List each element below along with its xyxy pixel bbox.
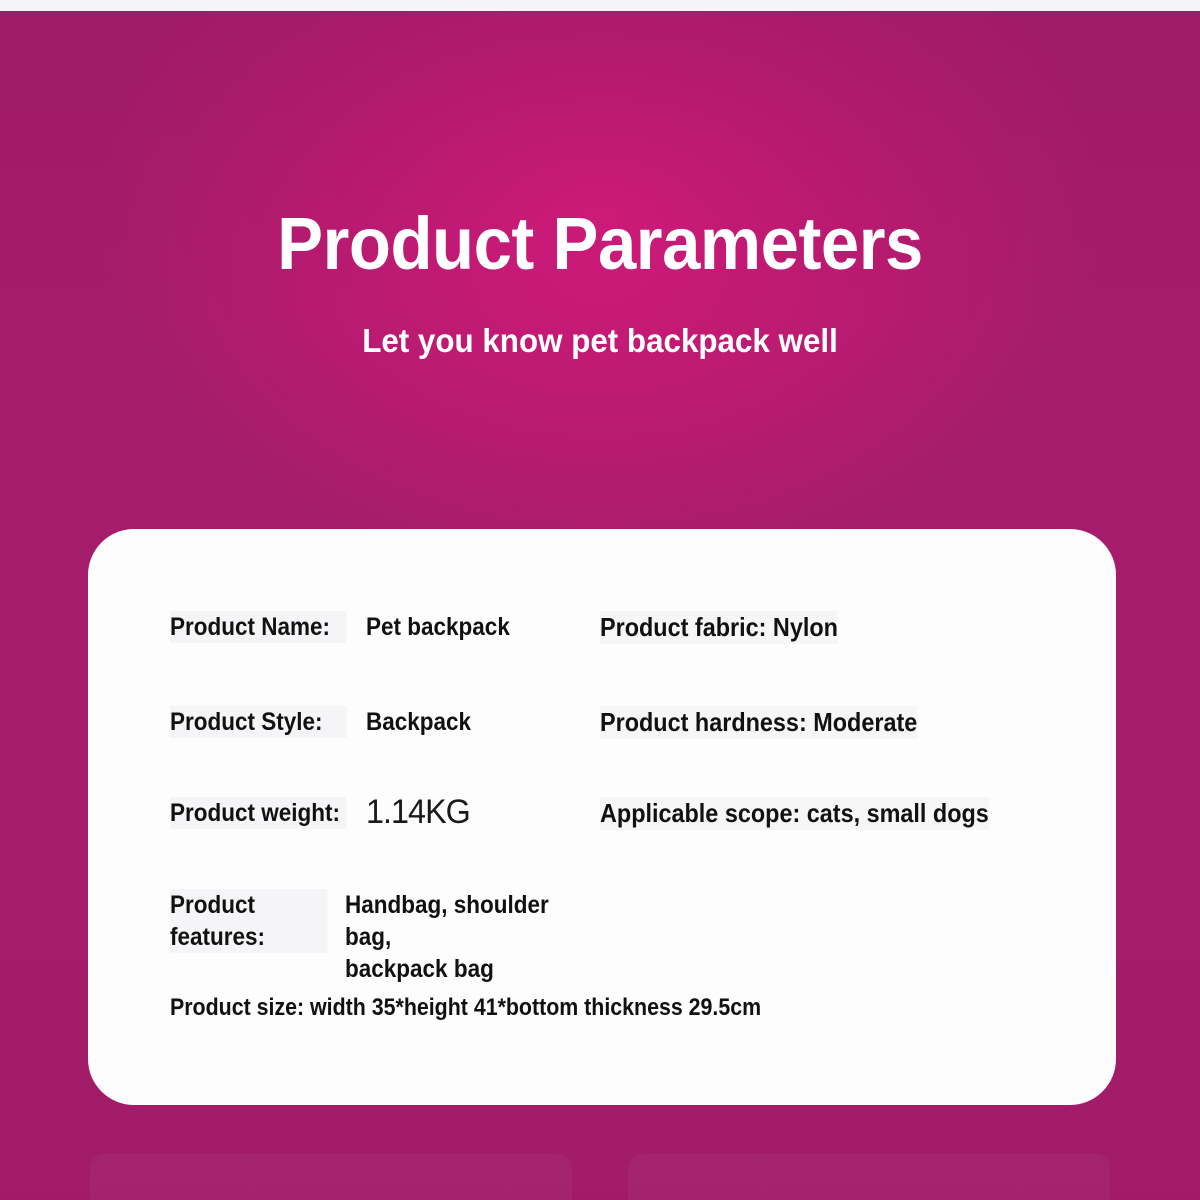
spec-row-right: Product fabric: Nylon bbox=[600, 611, 1082, 644]
spec-card: Product Name: Pet backpack Product fabri… bbox=[88, 529, 1116, 1105]
page-title: Product Parameters bbox=[42, 207, 1158, 281]
spec-row-product-style: Product Style: Backpack Product hardness… bbox=[170, 706, 1082, 739]
spec-row-right: Product hardness: Moderate bbox=[600, 706, 1082, 739]
value-product-name: Pet backpack bbox=[366, 611, 510, 643]
magenta-backdrop: Product Parameters Let you know pet back… bbox=[0, 11, 1200, 1200]
label-product-weight: Product weight: bbox=[170, 797, 346, 829]
value-product-features: Handbag, shoulder bag, backpack bag bbox=[345, 889, 574, 985]
value-product-weight: 1.14KG bbox=[366, 791, 470, 835]
label-product-features: Product features: bbox=[170, 889, 328, 953]
bottom-ghost-shapes bbox=[90, 1154, 1110, 1200]
header-block: Product Parameters Let you know pet back… bbox=[0, 207, 1200, 357]
ghost-shape-right bbox=[628, 1154, 1110, 1200]
spec-row-product-weight: Product weight: 1.14KG Applicable scope:… bbox=[170, 797, 1082, 835]
spec-row-product-name: Product Name: Pet backpack Product fabri… bbox=[170, 611, 1082, 644]
spec-row-right: Applicable scope: cats, small dogs bbox=[600, 797, 1082, 830]
value-applicable-scope: Applicable scope: cats, small dogs bbox=[600, 797, 989, 830]
ghost-shape-left bbox=[90, 1154, 572, 1200]
product-parameters-page: Product Parameters Let you know pet back… bbox=[0, 0, 1200, 1200]
spec-row-left: Product Style: Backpack bbox=[170, 706, 600, 738]
spec-row-product-features: Product features: Handbag, shoulder bag,… bbox=[170, 889, 1082, 985]
top-edge-strip bbox=[0, 0, 1200, 11]
spec-row-left: Product weight: 1.14KG bbox=[170, 797, 600, 835]
value-product-size: Product size: width 35*height 41*bottom … bbox=[170, 993, 761, 1024]
spec-row-left: Product Name: Pet backpack bbox=[170, 611, 600, 643]
value-product-style: Backpack bbox=[366, 706, 471, 738]
label-product-name: Product Name: bbox=[170, 611, 346, 643]
label-product-style: Product Style: bbox=[170, 706, 346, 738]
page-subtitle: Let you know pet backpack well bbox=[30, 324, 1170, 357]
value-product-hardness: Product hardness: Moderate bbox=[600, 706, 917, 739]
spec-row-left: Product features: Handbag, shoulder bag,… bbox=[170, 889, 600, 985]
spec-card-content: Product Name: Pet backpack Product fabri… bbox=[170, 589, 1082, 1079]
value-product-fabric: Product fabric: Nylon bbox=[600, 611, 838, 644]
